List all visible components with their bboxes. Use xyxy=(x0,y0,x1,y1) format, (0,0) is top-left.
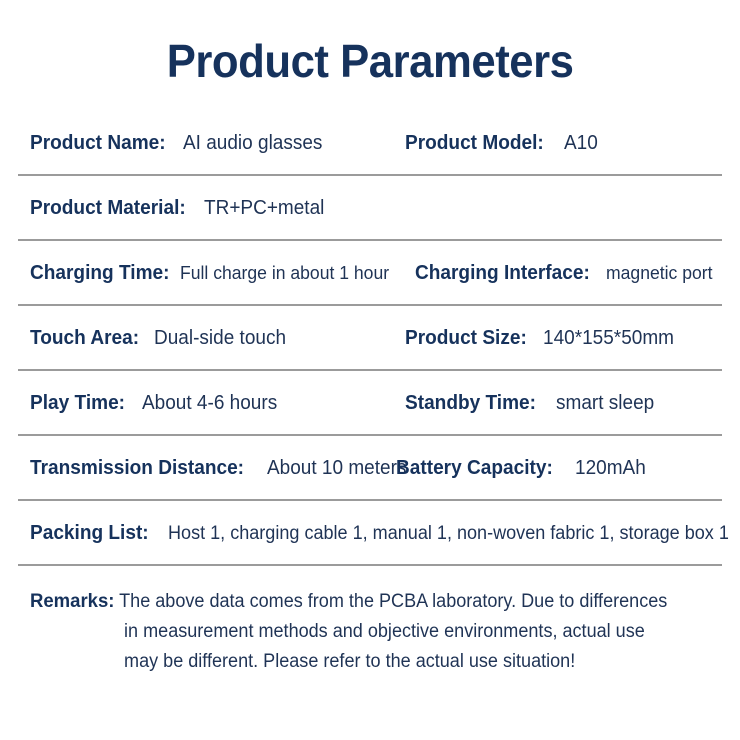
spec-label: Battery Capacity: xyxy=(396,456,553,480)
spec-label: Play Time: xyxy=(30,391,125,415)
spec-value: AI audio glasses xyxy=(183,132,322,155)
table-row: Product Material: TR+PC+metal xyxy=(18,176,722,241)
table-row: Touch Area: Dual-side touch Product Size… xyxy=(18,306,722,371)
spec-cell-charging-interface: Charging Interface: magnetic port xyxy=(415,261,718,285)
spec-value: Host 1, charging cable 1, manual 1, non-… xyxy=(168,523,729,545)
spec-value: 120mAh xyxy=(575,457,646,480)
spec-cell-product-model: Product Model: A10 xyxy=(405,131,600,155)
spec-label: Product Material: xyxy=(30,196,186,220)
spec-label: Touch Area: xyxy=(30,326,139,350)
spec-value: magnetic port xyxy=(606,262,712,284)
spec-value: Dual-side touch xyxy=(154,327,286,350)
product-parameters-sheet: Product Parameters Product Name: AI audi… xyxy=(0,0,740,740)
remarks-block: Remarks: The above data comes from the P… xyxy=(0,566,740,677)
spec-label: Transmission Distance: xyxy=(30,456,244,480)
spec-cell-play-time: Play Time: About 4-6 hours xyxy=(18,391,405,415)
remarks-text-2: in measurement methods and objective env… xyxy=(124,621,645,642)
spec-cell-charging-time: Charging Time: Full charge in about 1 ho… xyxy=(18,261,415,285)
table-row: Transmission Distance: About 10 meters B… xyxy=(18,436,722,501)
spec-value: About 10 meters xyxy=(267,457,406,480)
remarks-line-2: in measurement methods and objective env… xyxy=(30,617,687,647)
spec-cell-battery-capacity: Battery Capacity: 120mAh xyxy=(396,456,649,480)
spec-value: 140*155*50mm xyxy=(543,327,674,350)
spec-cell-packing-list: Packing List: Host 1, charging cable 1, … xyxy=(18,521,740,545)
page-title-container: Product Parameters xyxy=(0,0,740,84)
spec-value: A10 xyxy=(564,132,598,155)
spec-label: Product Model: xyxy=(405,131,544,155)
table-row: Product Name: AI audio glasses Product M… xyxy=(18,111,722,176)
remarks-line-3: may be different. Please refer to the ac… xyxy=(30,647,687,677)
table-row: Play Time: About 4-6 hours Standby Time:… xyxy=(18,371,722,436)
spec-value: smart sleep xyxy=(556,392,654,415)
page-title: Product Parameters xyxy=(167,38,574,84)
remarks-label: Remarks: xyxy=(30,590,114,612)
spec-label: Charging Interface: xyxy=(415,261,590,285)
spec-value: TR+PC+metal xyxy=(204,197,324,220)
specifications-table: Product Name: AI audio glasses Product M… xyxy=(0,111,740,566)
spec-cell-touch-area: Touch Area: Dual-side touch xyxy=(18,326,405,350)
table-row: Charging Time: Full charge in about 1 ho… xyxy=(18,241,722,306)
spec-cell-product-material: Product Material: TR+PC+metal xyxy=(18,196,331,220)
spec-label: Product Name: xyxy=(30,131,166,155)
remarks-text-3: may be different. Please refer to the ac… xyxy=(124,651,575,672)
spec-label: Packing List: xyxy=(30,521,149,545)
spec-value: About 4-6 hours xyxy=(142,392,277,415)
remarks-text-1: The above data comes from the PCBA labor… xyxy=(119,591,667,612)
spec-label: Charging Time: xyxy=(30,261,169,285)
spec-cell-standby-time: Standby Time: smart sleep xyxy=(405,391,659,415)
spec-cell-transmission-distance: Transmission Distance: About 10 meters xyxy=(18,456,396,480)
remarks-line-1: Remarks: The above data comes from the P… xyxy=(30,586,687,617)
spec-value: Full charge in about 1 hour xyxy=(180,262,389,284)
spec-label: Product Size: xyxy=(405,326,527,350)
spec-cell-product-size: Product Size: 140*155*50mm xyxy=(405,326,681,350)
spec-cell-product-name: Product Name: AI audio glasses xyxy=(18,131,405,155)
spec-label: Standby Time: xyxy=(405,391,536,415)
table-row: Packing List: Host 1, charging cable 1, … xyxy=(18,501,722,566)
